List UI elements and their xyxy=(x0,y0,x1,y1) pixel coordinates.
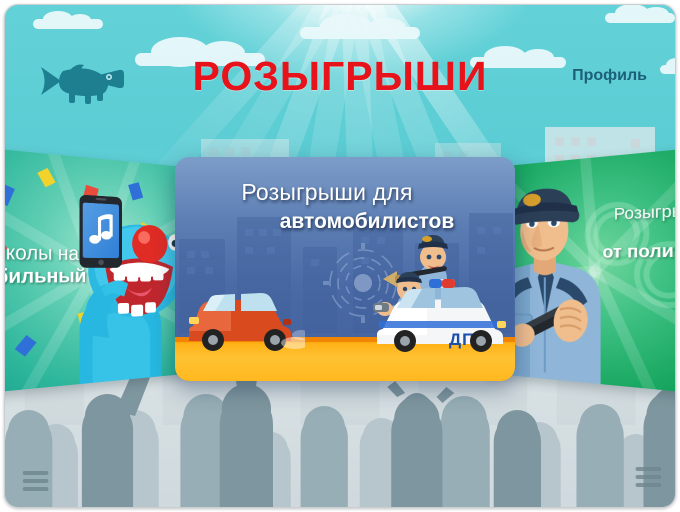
center-card-automobilists[interactable]: Розыгрыши для автомобилистов xyxy=(175,157,515,381)
cloud-icon xyxy=(300,27,420,39)
confetti-piece xyxy=(37,168,55,187)
confetti-piece xyxy=(4,183,15,206)
profile-link[interactable]: Профиль xyxy=(572,67,647,85)
confetti-piece xyxy=(15,335,37,357)
app-frame: РОЗЫГРЫШИ Профиль xyxy=(4,4,676,508)
card-title-line1: Розыгрыши для xyxy=(175,179,515,206)
confetti-piece xyxy=(4,232,8,257)
cloud-icon xyxy=(605,13,675,23)
app-screen: РОЗЫГРЫШИ Профиль xyxy=(0,0,680,512)
left-panel-card[interactable]: Приколы на мобильный xyxy=(4,146,195,396)
red-car-icon xyxy=(187,285,305,351)
police-car-icon: ДПС xyxy=(373,279,509,353)
confetti-piece xyxy=(128,182,143,200)
smartphone-music-icon xyxy=(79,195,122,268)
cloud-icon xyxy=(33,19,103,29)
